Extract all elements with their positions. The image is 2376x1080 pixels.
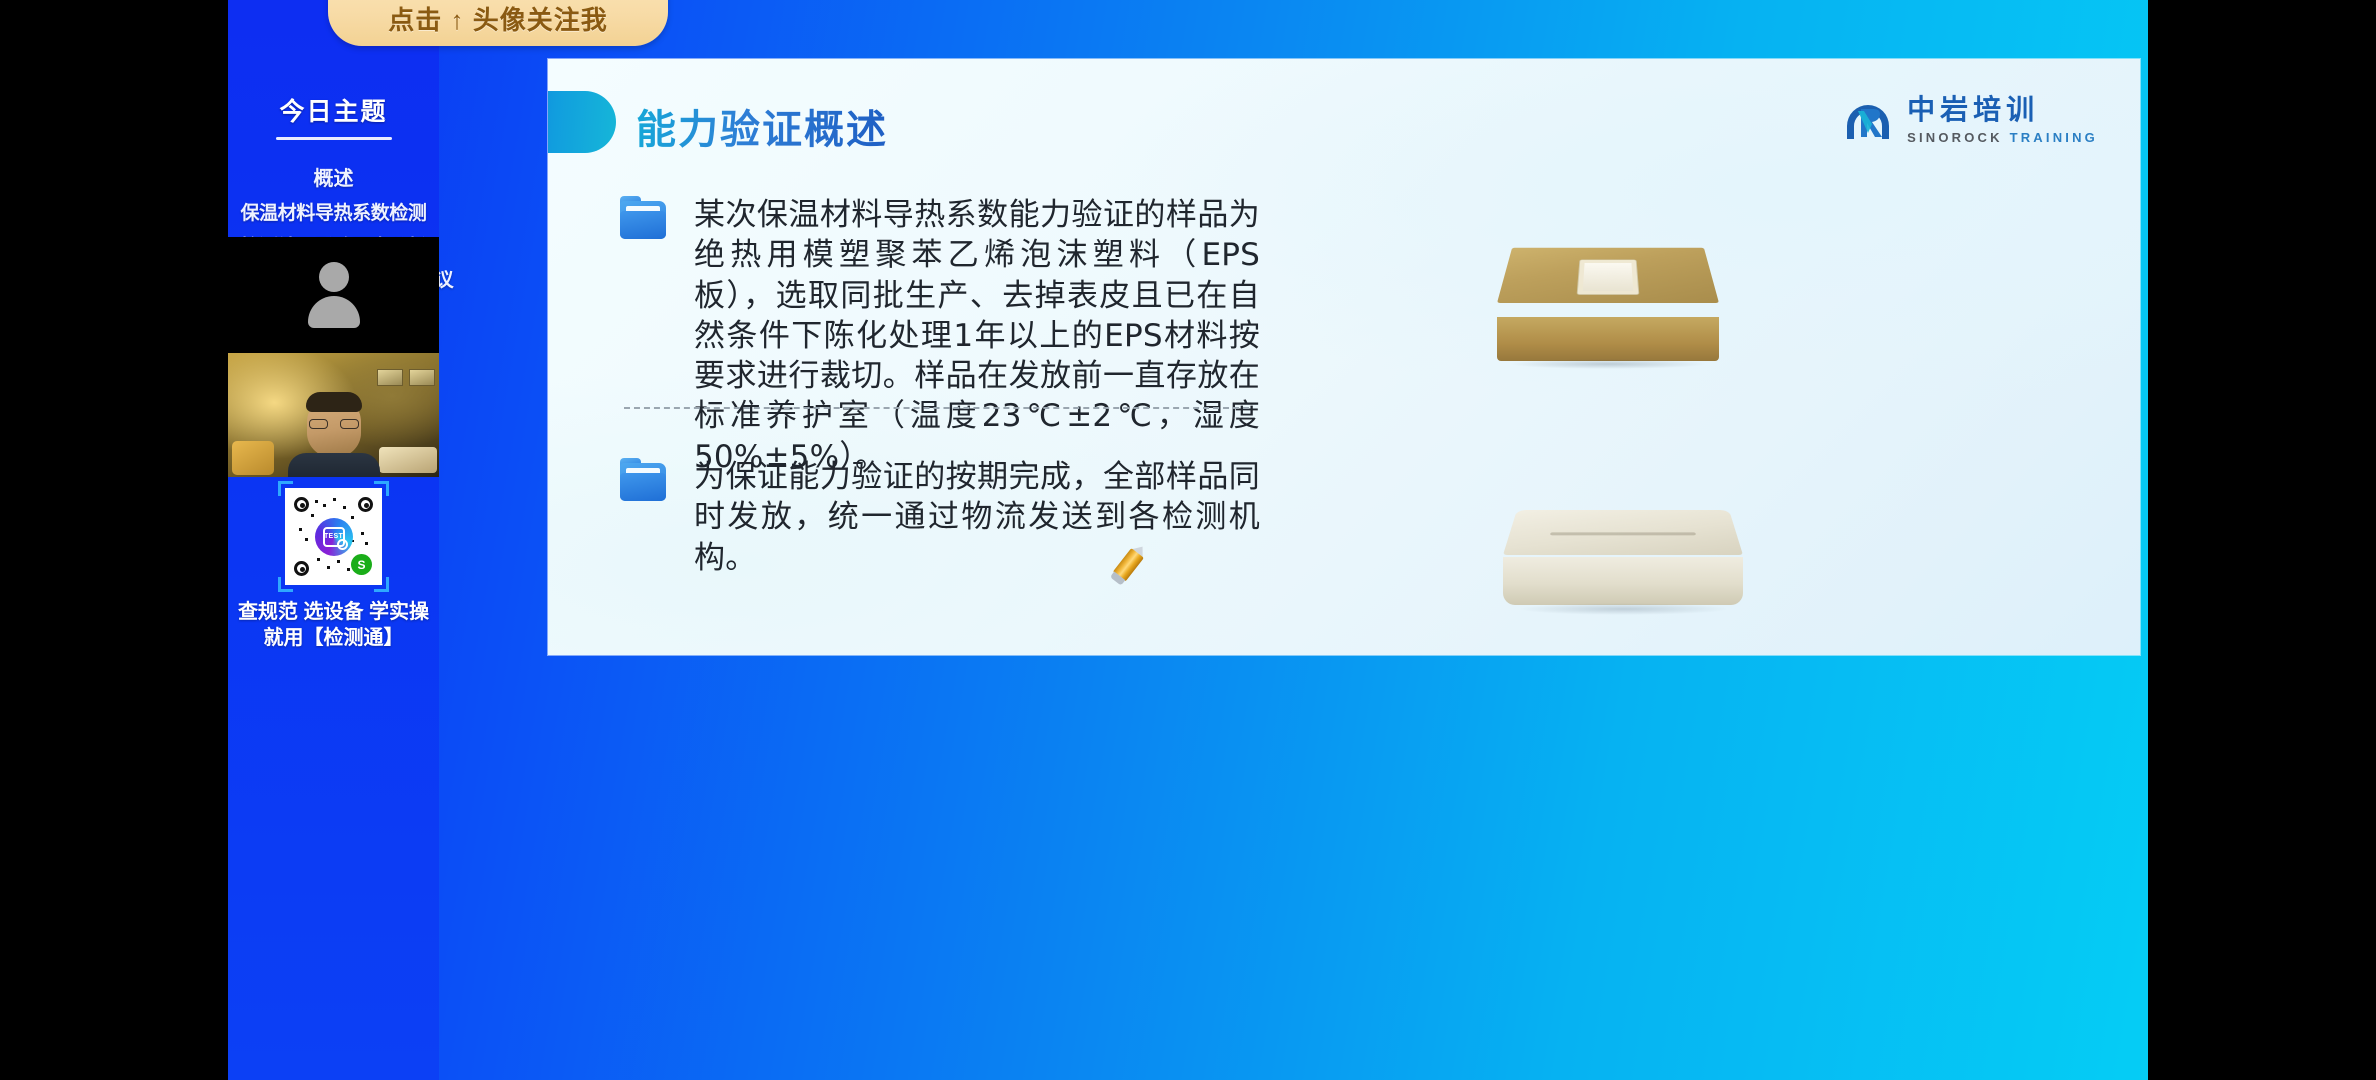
presenter-torso bbox=[288, 453, 380, 477]
brand-logo: 中岩培训 SINOROCK TRAINING bbox=[1841, 93, 2098, 147]
box-shadow bbox=[1509, 359, 1707, 369]
logo-text: 中岩培训 SINOROCK TRAINING bbox=[1907, 96, 2098, 144]
qr-canvas: TEST S bbox=[291, 494, 376, 579]
qr-eye-icon bbox=[294, 561, 309, 576]
folder-icon bbox=[620, 463, 666, 501]
qr-caption-line-1: 查规范 选设备 学实操 bbox=[238, 599, 429, 625]
wrapped-shadow bbox=[1517, 603, 1729, 615]
letterbox-left bbox=[0, 0, 228, 1080]
wall-picture-icon bbox=[377, 369, 403, 386]
folder-icon bbox=[620, 201, 666, 239]
bullet-item: 为保证能力验证的按期完成，全部样品同时发放，统一通过物流发送到各检测机构。 bbox=[620, 457, 1260, 578]
presenter-video-tile[interactable] bbox=[228, 353, 439, 477]
bullet-text: 某次保温材料导热系数能力验证的样品为绝热用模塑聚苯乙烯泡沫塑料（EPS板），选取… bbox=[694, 195, 1260, 477]
bullet-text: 为保证能力验证的按期完成，全部样品同时发放，统一通过物流发送到各检测机构。 bbox=[694, 457, 1260, 578]
sidebar-item-thermal-conductivity[interactable]: 保温材料导热系数检测 bbox=[228, 197, 439, 231]
person-avatar-icon bbox=[306, 262, 362, 328]
bullet-item: 某次保温材料导热系数能力验证的样品为绝热用模塑聚苯乙烯泡沫塑料（EPS板），选取… bbox=[620, 195, 1260, 477]
glasses-icon bbox=[309, 419, 359, 429]
presenter-figure bbox=[288, 395, 380, 477]
qr-eye-icon bbox=[358, 497, 373, 512]
wrapped-front-face bbox=[1503, 557, 1743, 605]
video-frame: 今日主题 概述 保温材料导热系数检测 检测结果影响因素分析 能力验证发现的问题及… bbox=[228, 0, 2148, 1080]
logo-en-secondary: TRAINING bbox=[2010, 130, 2098, 145]
sidebar-title: 今日主题 bbox=[228, 92, 439, 128]
presentation-slide[interactable]: 能力验证概述 中岩培训 SINOROCK TRAINING bbox=[548, 59, 2140, 655]
logo-english-name: SINOROCK TRAINING bbox=[1907, 131, 2098, 144]
sinorock-monogram-icon bbox=[1841, 93, 1895, 147]
qr-code[interactable]: TEST S bbox=[285, 488, 382, 585]
sofa-shape bbox=[232, 441, 274, 475]
qr-caption-line-2: 就用【检测通】 bbox=[238, 625, 429, 651]
cardboard-box-photo bbox=[1483, 211, 1733, 371]
test-badge-icon: TEST bbox=[323, 527, 345, 547]
logo-en-primary: SINOROCK bbox=[1907, 130, 2003, 145]
magnifier-icon bbox=[337, 539, 348, 550]
qr-frame-corner-icon bbox=[374, 577, 389, 592]
qr-frame-corner-icon bbox=[278, 577, 293, 592]
title-accent-shape bbox=[548, 91, 616, 153]
slide-title: 能力验证概述 bbox=[636, 97, 888, 155]
wrapped-top-face bbox=[1503, 510, 1743, 555]
screen-stage: 今日主题 概述 保温材料导热系数检测 检测结果影响因素分析 能力验证发现的问题及… bbox=[0, 0, 2376, 1080]
logo-chinese-name: 中岩培训 bbox=[1907, 96, 2098, 124]
letterbox-right bbox=[2148, 0, 2376, 1080]
box-front-face bbox=[1497, 317, 1719, 361]
shipping-label-pouch bbox=[1577, 260, 1640, 295]
box-top-face bbox=[1497, 248, 1719, 303]
sidebar: 今日主题 概述 保温材料导热系数检测 检测结果影响因素分析 能力验证发现的问题及… bbox=[228, 0, 439, 1080]
qr-logo-badge: TEST bbox=[315, 518, 353, 556]
qr-caption: 查规范 选设备 学实操 就用【检测通】 bbox=[238, 599, 429, 652]
follow-me-text: 点击 ↑ 头像关注我 bbox=[388, 0, 607, 37]
sidebar-item-overview[interactable]: 概述 bbox=[228, 162, 439, 197]
bed-shape bbox=[379, 447, 437, 473]
sidebar-header: 今日主题 bbox=[228, 92, 439, 140]
qr-frame-corner-icon bbox=[374, 481, 389, 496]
wall-picture-icon bbox=[409, 369, 435, 386]
section-divider bbox=[624, 407, 1249, 409]
wrapped-sample-photo bbox=[1493, 479, 1753, 619]
presenter-hair bbox=[306, 392, 362, 412]
wechat-miniprogram-icon: S bbox=[351, 554, 372, 575]
participant-video-tile[interactable] bbox=[228, 237, 439, 353]
qr-block: TEST S 查规范 选设备 学实操 就用【检测通】 bbox=[228, 488, 439, 652]
follow-me-banner[interactable]: 点击 ↑ 头像关注我 bbox=[328, 0, 668, 46]
sidebar-title-underline bbox=[276, 137, 392, 140]
qr-eye-icon bbox=[294, 497, 309, 512]
